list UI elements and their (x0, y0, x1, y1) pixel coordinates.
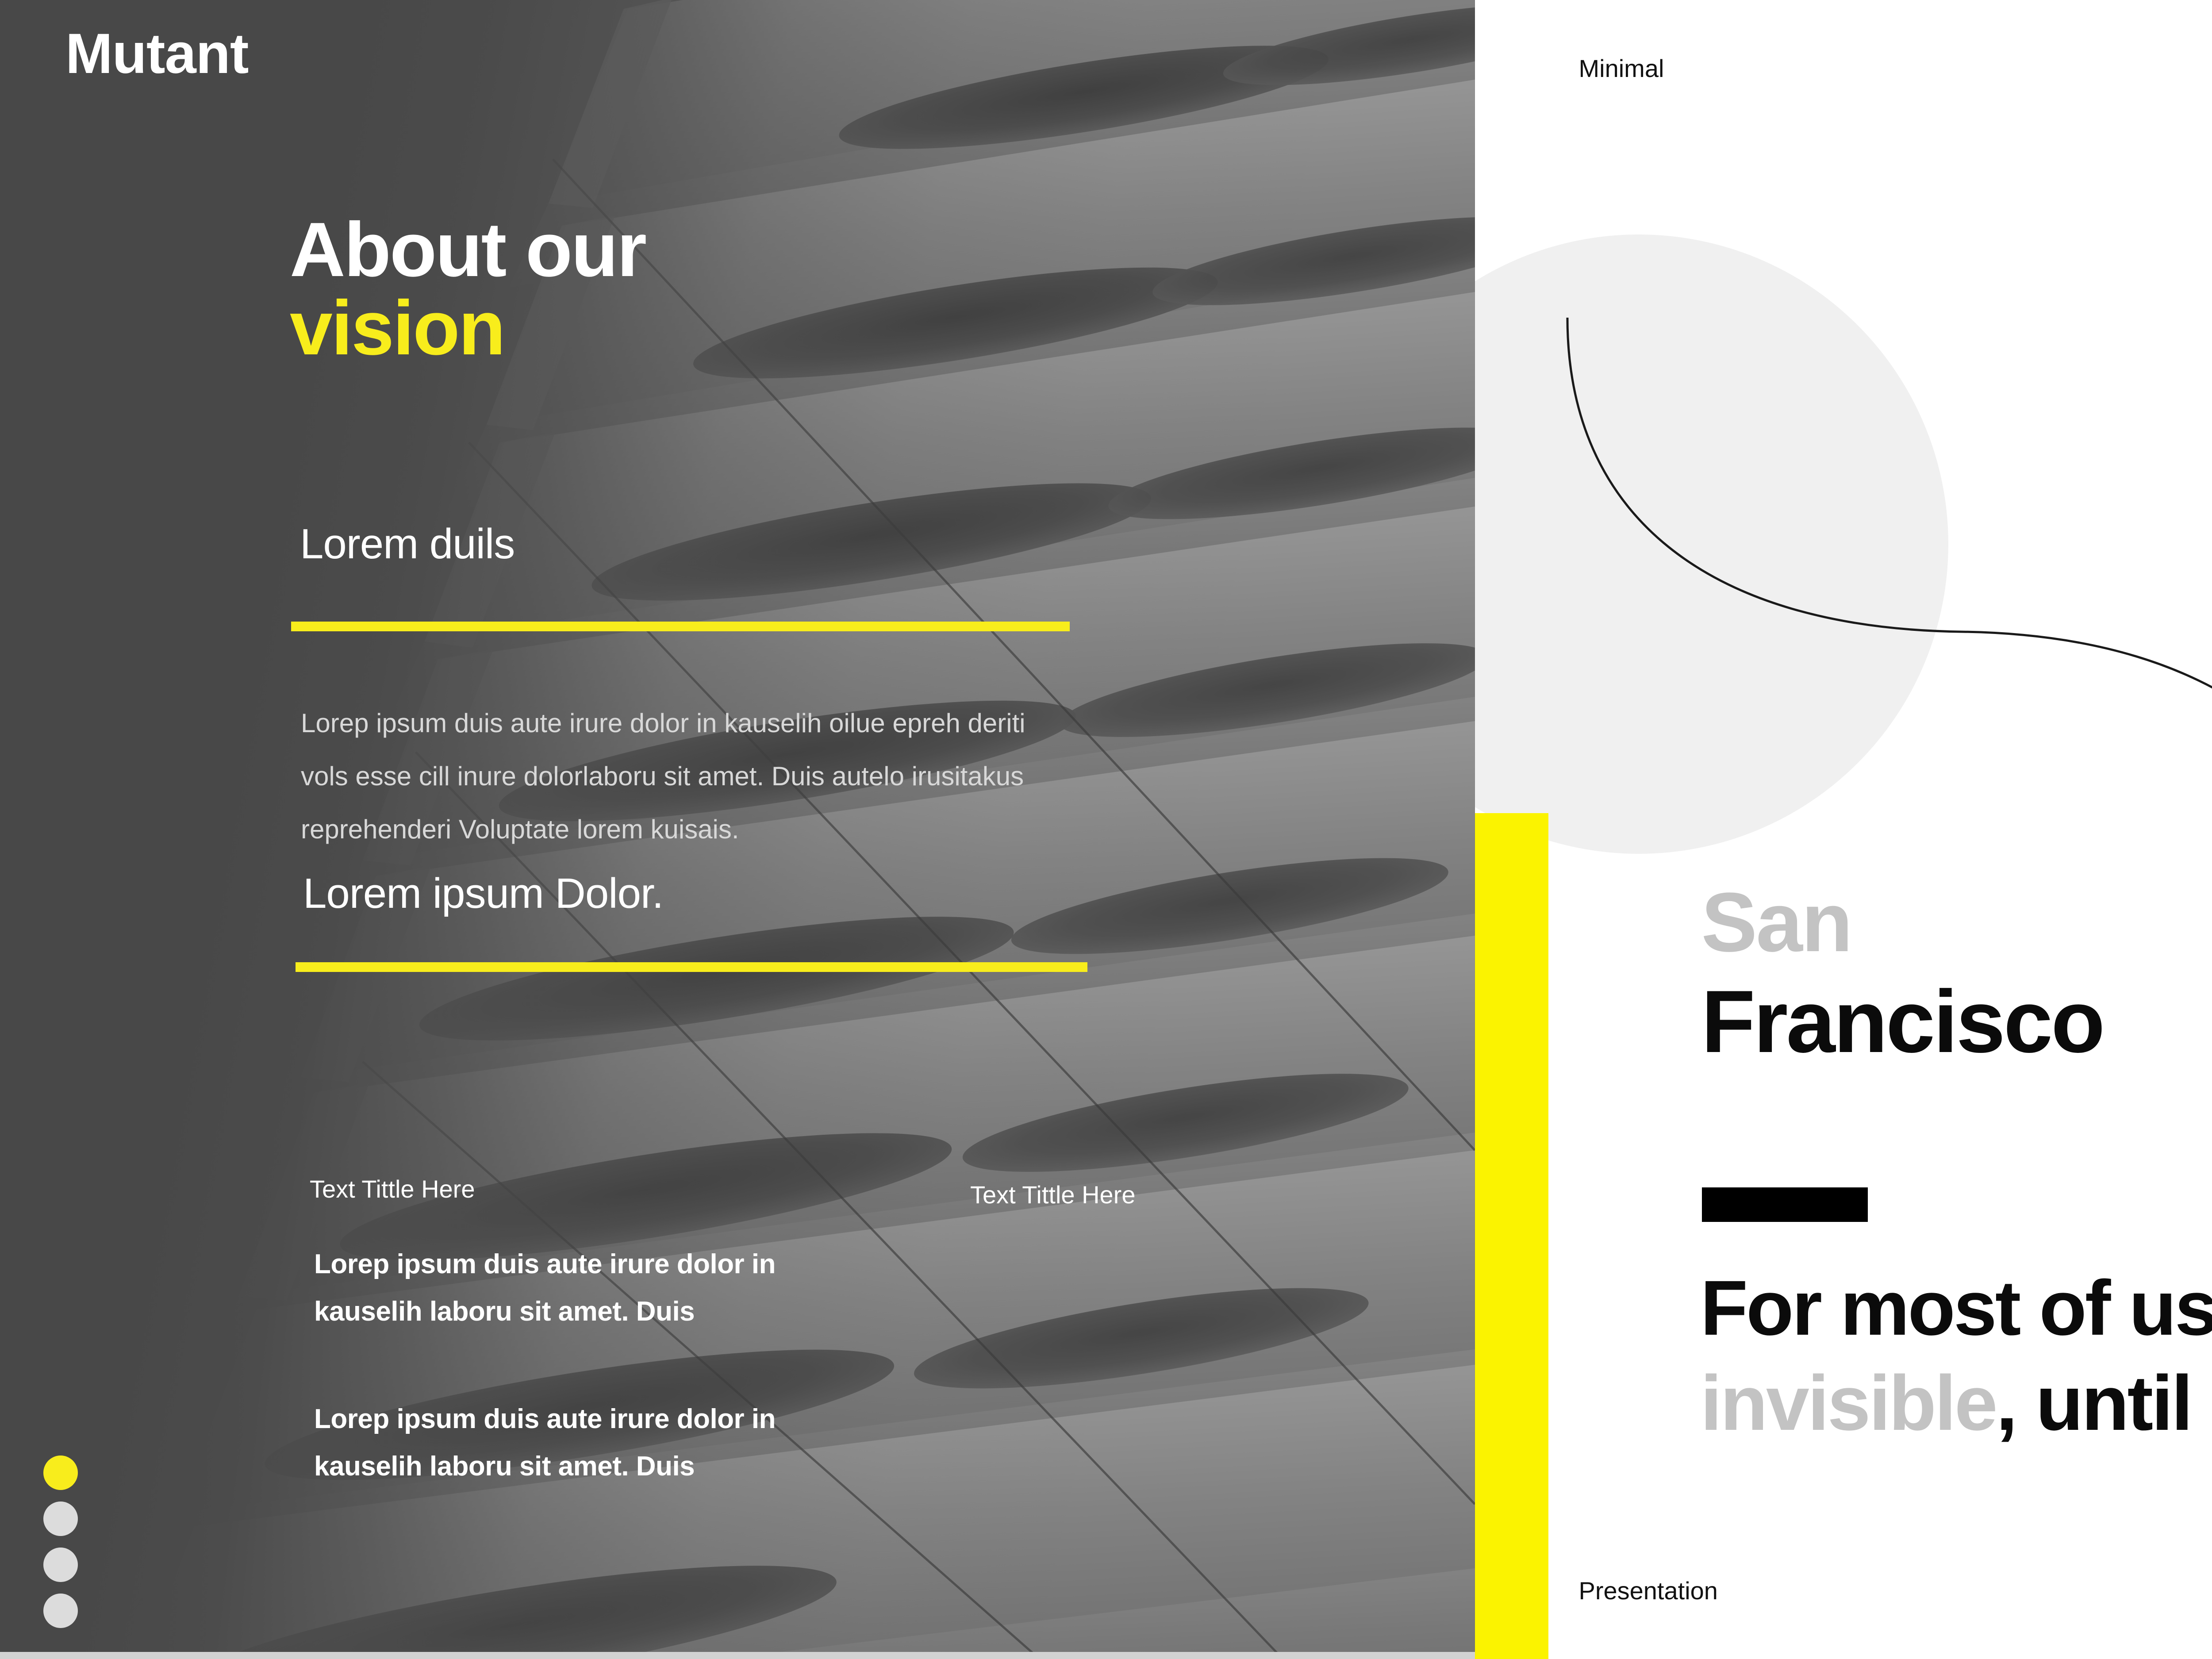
pagination-dots[interactable] (43, 1455, 78, 1640)
headline-line-1: About our (290, 210, 645, 288)
pagination-dot-1[interactable] (43, 1455, 78, 1490)
yellow-accent-bar (1475, 813, 1548, 1659)
section-1-yellow-rule (291, 622, 1070, 631)
right-panel: Minimal Modern Style San Francisco For m… (1475, 0, 2212, 1659)
quote-line-2: , until it fails (1996, 1360, 2212, 1447)
section-1-body-text: Lorep ipsum duis aute irure dolor in kau… (301, 697, 1057, 856)
presentation-slide: Mutant About our vision Lorem duils Lore… (0, 0, 2212, 1659)
feature-blurb-b: Lorep ipsum duis aute irure dolor in kau… (314, 1396, 889, 1490)
left-panel: Mutant About our vision Lorem duils Lore… (0, 0, 1475, 1659)
text-title-label-a: Text Tittle Here (310, 1175, 475, 1203)
pagination-dot-4[interactable] (43, 1594, 78, 1628)
quote-muted-word: invisible (1701, 1360, 1996, 1447)
black-accent-bar (1702, 1187, 1868, 1222)
section-2-title: Lorem ipsum Dolor. (303, 869, 663, 918)
brand-logo[interactable]: Mutant (65, 26, 248, 82)
section-2-yellow-rule (296, 962, 1087, 972)
bottom-left-label: Presentation (1579, 1576, 1718, 1605)
page-title: About our vision (290, 210, 645, 367)
city-name-small: San (1701, 880, 1851, 964)
text-title-label-b: Text Tittle Here (970, 1180, 1135, 1209)
top-left-label: Minimal (1579, 54, 1664, 83)
pagination-dot-2[interactable] (43, 1502, 78, 1536)
quote-line-1: For most of us, design is (1701, 1265, 2212, 1352)
design-quote: For most of us, design is invisible, unt… (1701, 1261, 2212, 1451)
pagination-dot-3[interactable] (43, 1548, 78, 1582)
headline-line-2: vision (290, 288, 645, 367)
section-1-title: Lorem duils (300, 520, 515, 568)
city-name-large: Francisco (1701, 978, 2104, 1066)
feature-blurb-a: Lorep ipsum duis aute irure dolor in kau… (314, 1241, 889, 1335)
